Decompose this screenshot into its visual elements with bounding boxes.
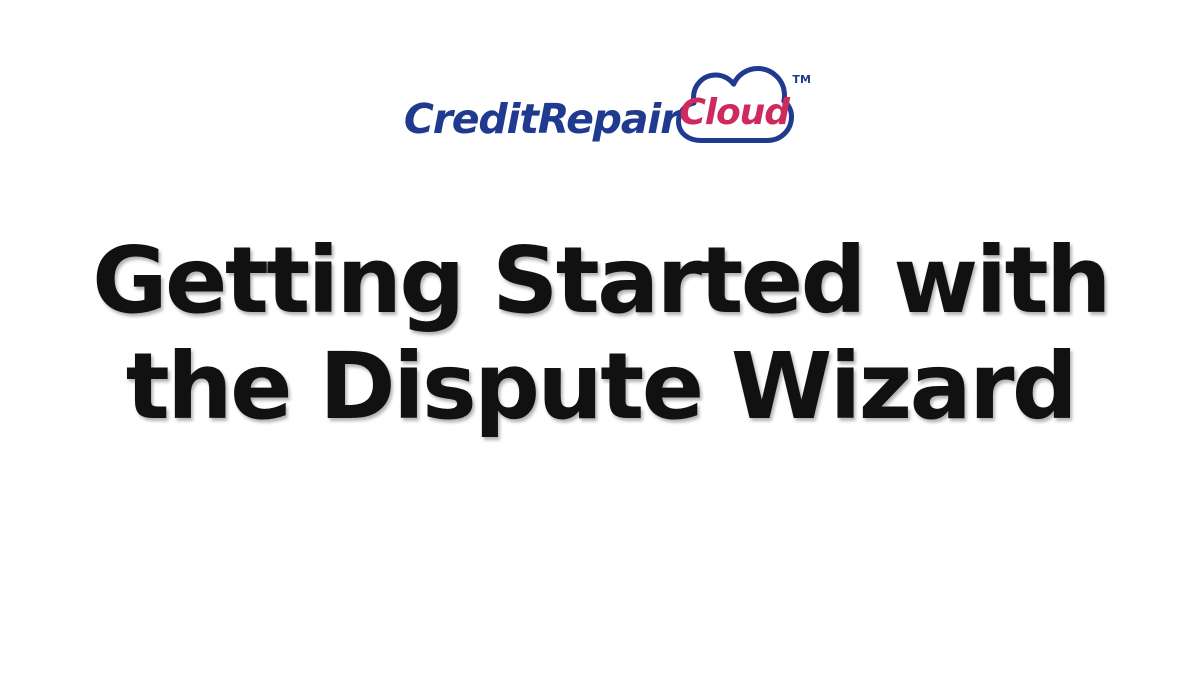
creditrepair-cloud-logo: CreditRepair Cloud TM <box>0 62 1201 148</box>
title-line-1: Getting Started with <box>0 228 1201 334</box>
title-slide: CreditRepair Cloud TM Getting Started wi… <box>0 0 1201 675</box>
cloud-icon: Cloud TM <box>673 66 797 144</box>
logo-wordmark-text: CreditRepair <box>404 99 679 140</box>
page-title: Getting Started with the Dispute Wizard <box>0 228 1201 440</box>
logo-cloud-word: Cloud <box>673 95 795 131</box>
trademark-icon: TM <box>792 74 811 85</box>
title-line-2: the Dispute Wizard <box>0 334 1201 440</box>
